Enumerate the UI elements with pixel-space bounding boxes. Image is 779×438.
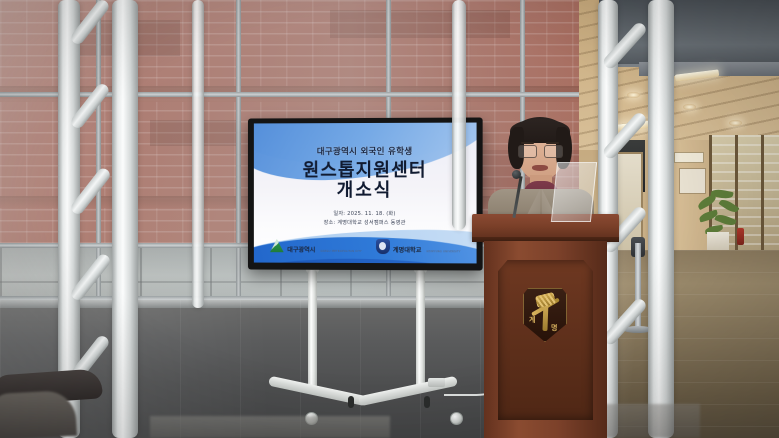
emblem-char-left: 계: [529, 315, 535, 325]
structural-column: [192, 0, 204, 308]
emblem-char-right: 명: [551, 323, 557, 333]
slide-title-line2: 개소식: [303, 181, 427, 201]
structural-column: [112, 0, 138, 438]
brick-shadow-patch: [330, 10, 510, 38]
logo-daegu: 대구광역시 DAEGU METROPOLITAN CITY: [269, 236, 361, 255]
slide-subtitle: 대구광역시 외국인 유학생: [317, 145, 413, 157]
downlight-icon: [627, 92, 640, 98]
slide-meta-date: 일자: 2025. 11. 18. (화): [324, 210, 406, 219]
cart-caster-stem: [424, 396, 430, 408]
fire-extinguisher-icon: [737, 228, 744, 245]
cart-caster: [450, 412, 463, 425]
slide-title-line1: 원스톱지원센터: [303, 160, 427, 181]
downlight-icon: [683, 104, 696, 110]
structural-column: [648, 0, 674, 438]
cable-connector: [428, 378, 445, 387]
window-mullion: [236, 0, 241, 308]
cart-column: [416, 270, 425, 388]
cart-column: [308, 270, 317, 388]
slide-title: 원스톱지원센터 개소식: [303, 161, 427, 201]
logo-keimyung-sublabel: KEIMYUNG UNIVERSITY: [427, 250, 461, 253]
floor-mat: [150, 416, 390, 438]
speaker-description: 연사 (단발머리, 안경, 회색 자켓, 자주색 터틀넥): [482, 117, 483, 118]
green-triangle-mountain-icon: [269, 239, 284, 253]
photo-scene: 대구광역시 외국인 유학생 원스톱지원센터 개소식 일자: 2025. 11. …: [0, 0, 779, 438]
eyebrow-left: [521, 142, 534, 144]
glasses-icon: [518, 145, 563, 156]
eyebrow-right: [546, 142, 559, 144]
presentation-display[interactable]: 대구광역시 외국인 유학생 원스톱지원센터 개소식 일자: 2025. 11. …: [248, 117, 483, 270]
mouth: [532, 165, 548, 171]
cart-caster-stem: [348, 396, 354, 408]
slide-meta: 일자: 2025. 11. 18. (화) 장소: 계명대학교 성서캠퍼스 동영…: [324, 210, 406, 228]
slide-logo-row: 대구광역시 DAEGU METROPOLITAN CITY 계명대학교 KEIM…: [269, 236, 460, 256]
downlight-icon: [729, 120, 742, 126]
logo-keimyung: 계명대학교 KEIMYUNG UNIVERSITY: [376, 237, 461, 256]
slide-meta-place: 장소: 계명대학교 성서캠퍼스 동영관: [324, 219, 406, 228]
structural-column: [452, 0, 466, 230]
speaking-podium: 계 명: [472, 214, 619, 438]
logo-daegu-label: 대구광역시: [287, 246, 315, 253]
presentation-slide: 대구광역시 외국인 유학생 원스톱지원센터 개소식 일자: 2025. 11. …: [254, 123, 477, 264]
logo-daegu-sublabel: DAEGU METROPOLITAN CITY: [321, 249, 362, 252]
logo-keimyung-label: 계명대학교: [393, 247, 422, 254]
microphone-icon: [512, 170, 521, 179]
acrylic-panel: [551, 162, 597, 222]
wall-sign: [674, 152, 704, 163]
blue-shield-icon: [376, 239, 390, 254]
emblem-flame-icon: [535, 292, 556, 308]
